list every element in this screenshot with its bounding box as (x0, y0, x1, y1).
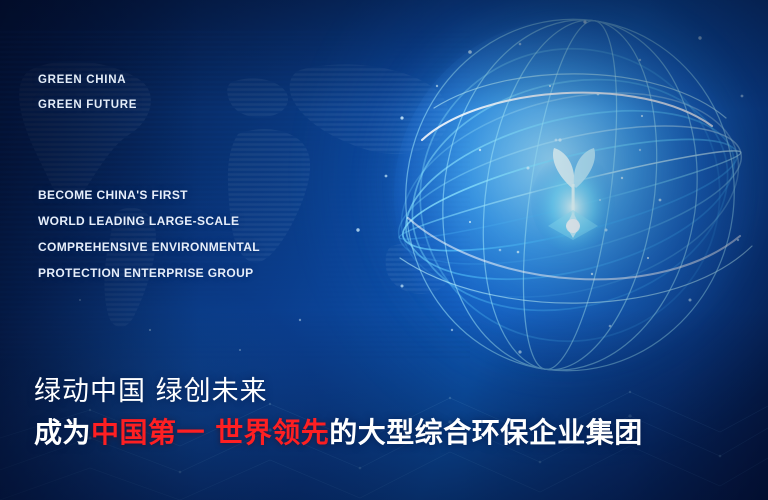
slogan-line-1: BECOME CHINA'S FIRST (38, 182, 260, 208)
slogan-line-4: PROTECTION ENTERPRISE GROUP (38, 260, 260, 286)
headline-line-1: 绿动中国 绿创未来 (34, 372, 748, 412)
banner-image: GREEN CHINA GREEN FUTURE BECOME CHINA'S … (0, 0, 768, 500)
tagline-line-1: GREEN CHINA (38, 68, 137, 93)
tagline-line-2: GREEN FUTURE (38, 93, 137, 118)
chinese-headline: 绿动中国 绿创未来 成为中国第一 世界领先的大型综合环保企业集团 (34, 372, 748, 454)
headline-suffix: 的大型综合环保企业集团 (329, 416, 643, 449)
headline-line-2: 成为中国第一 世界领先的大型综合环保企业集团 (34, 412, 748, 454)
headline-highlight: 中国第一 世界领先 (91, 416, 329, 449)
slogan-line-2: WORLD LEADING LARGE-SCALE (38, 208, 260, 234)
english-tagline: GREEN CHINA GREEN FUTURE (38, 68, 137, 118)
english-slogan: BECOME CHINA'S FIRST WORLD LEADING LARGE… (38, 182, 260, 286)
slogan-line-3: COMPREHENSIVE ENVIRONMENTAL (38, 234, 260, 260)
headline-prefix: 成为 (34, 416, 91, 449)
